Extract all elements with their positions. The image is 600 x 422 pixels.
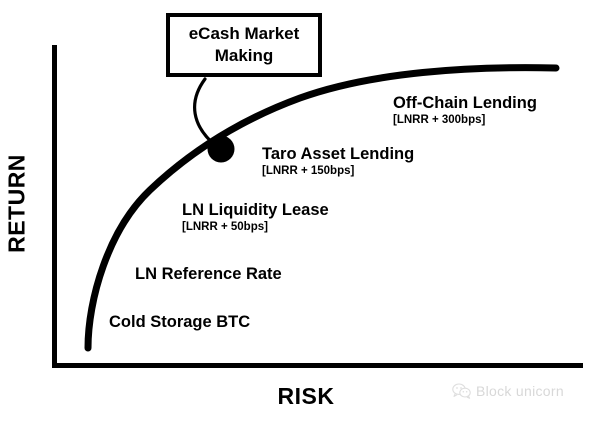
label-ln-liquidity-lease: LN Liquidity Lease [LNRR + 50bps]	[182, 200, 329, 235]
label-off-chain-lending-subtitle: [LNRR + 300bps]	[393, 113, 537, 128]
watermark: Block unicorn	[452, 383, 564, 399]
wechat-bubbles-icon	[452, 383, 471, 399]
label-off-chain-lending: Off-Chain Lending [LNRR + 300bps]	[393, 93, 537, 128]
risk-return-chart: RETURN RISK eCash Market Making Off-Chai…	[0, 0, 600, 422]
label-cold-storage-btc: Cold Storage BTC	[109, 312, 250, 332]
label-ln-liquidity-lease-subtitle: [LNRR + 50bps]	[182, 220, 329, 235]
callout-line-1: eCash Market	[189, 24, 300, 43]
label-ln-reference-rate-title: LN Reference Rate	[135, 264, 282, 284]
label-taro-asset-lending-subtitle: [LNRR + 150bps]	[262, 164, 414, 179]
callout-box-text: eCash Market Making	[189, 23, 300, 67]
label-cold-storage-btc-title: Cold Storage BTC	[109, 312, 250, 332]
label-ln-reference-rate: LN Reference Rate	[135, 264, 282, 284]
label-ln-liquidity-lease-title: LN Liquidity Lease	[182, 200, 329, 220]
label-taro-asset-lending: Taro Asset Lending [LNRR + 150bps]	[262, 144, 414, 179]
y-axis-title: RETURN	[4, 154, 31, 254]
watermark-text: Block unicorn	[476, 383, 564, 399]
callout-box-ecash-market-making[interactable]: eCash Market Making	[166, 13, 322, 77]
label-off-chain-lending-title: Off-Chain Lending	[393, 93, 537, 113]
marked-point-ecash-market-making[interactable]	[208, 136, 235, 163]
label-taro-asset-lending-title: Taro Asset Lending	[262, 144, 414, 164]
callout-leader-line	[195, 79, 216, 146]
callout-line-2: Making	[215, 46, 274, 65]
x-axis-title: RISK	[236, 383, 376, 410]
